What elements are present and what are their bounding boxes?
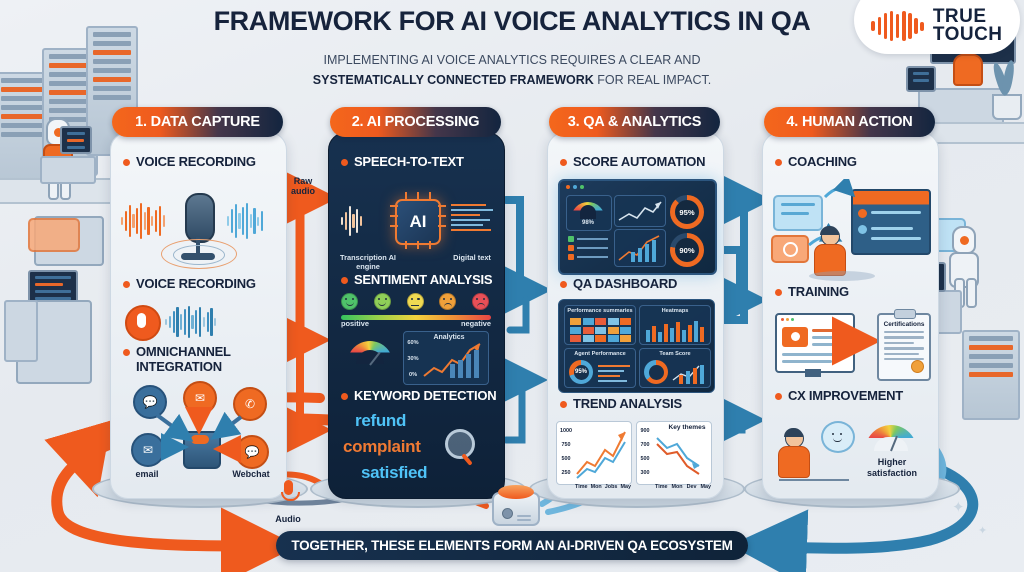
robot-operator <box>46 118 73 180</box>
chat-bubble-icon <box>28 218 80 252</box>
ring-value: 95% <box>575 369 587 375</box>
trend-x-ticks: Time Mon Dev May <box>655 484 711 491</box>
certifications-label: Certifications <box>881 321 927 329</box>
sentiment-gauge-chart-art: Analytics 60% 30% 0% <box>341 329 491 385</box>
email-label: email <box>129 469 165 480</box>
webchat-label: Webchat <box>227 469 275 480</box>
chip-pin <box>405 192 407 200</box>
monitor-icon <box>28 270 78 306</box>
raw-audio-line-2: audio <box>291 186 315 196</box>
bullet-keyword-detection: KEYWORD DETECTION <box>341 389 496 404</box>
desk-block <box>4 300 38 362</box>
analytics-chart-panel: Analytics 60% 30% 0% <box>403 331 489 385</box>
bullet-voice-recording-1: VOICE RECORDING <box>123 155 256 170</box>
chip-pin <box>438 215 446 217</box>
trend-x-tick: May <box>620 484 631 491</box>
trend-x-tick: Time <box>575 484 587 491</box>
trend-chart-right: Key themes 900 700 500 300 Time Mon Dev … <box>636 421 712 485</box>
server-rack-icon <box>962 330 1020 420</box>
chip-pin <box>390 215 398 217</box>
ai-chip-label: AI <box>410 212 427 232</box>
waveform-icon <box>165 305 216 339</box>
waveform-icon <box>341 201 362 241</box>
trend-y-tick: 700 <box>636 442 654 449</box>
bullet-voice-recording-2: VOICE RECORDING <box>123 277 256 292</box>
agent-list-lines <box>598 362 630 385</box>
certification-clipboard: Certifications <box>877 313 931 381</box>
bullet-dot-icon <box>123 281 130 288</box>
bullet-dot-icon <box>341 277 348 284</box>
mic-badge-waveform-art <box>125 299 275 343</box>
trend-x-tick: Time <box>655 484 667 491</box>
medal-icon <box>911 360 924 373</box>
subtitle-line-1: IMPLEMENTING AI VOICE ANALYTICS REQUIRES… <box>324 53 701 67</box>
ring-value: 90% <box>679 246 694 255</box>
column-ai-processing[interactable]: SPEECH-TO-TEXT AI <box>328 132 505 499</box>
legend-panel <box>566 233 610 267</box>
monitor-icon <box>906 66 936 92</box>
bullet-label: OMNICHANNEL INTEGRATION <box>136 345 273 374</box>
microphone-icon <box>137 313 146 328</box>
bullet-dot-icon <box>775 393 782 400</box>
bullet-dot-icon <box>341 393 348 400</box>
ring-inner: 95% <box>574 365 589 380</box>
trend-x-tick: Mon <box>591 484 602 491</box>
bullet-dot-icon <box>123 159 130 166</box>
speaker-top-glow <box>498 485 534 499</box>
coaching-art <box>771 179 931 287</box>
bullet-cx-improvement: CX IMPROVEMENT <box>775 389 903 404</box>
page-subtitle: IMPLEMENTING AI VOICE ANALYTICS REQUIRES… <box>250 50 774 91</box>
sentiment-gauge-icon <box>347 341 393 364</box>
team-score-chart <box>671 360 709 386</box>
monitor-icon <box>60 126 92 154</box>
ground-line <box>779 479 849 481</box>
trend-x-tick: Jobs <box>605 484 618 491</box>
microphone-icon <box>185 193 215 243</box>
ripple-icon <box>161 239 237 269</box>
bullet-sentiment-analysis: SENTIMENT ANALYSIS <box>341 273 492 288</box>
transcription-engine-label: Transcription AI engine <box>339 253 397 271</box>
heatmap-bars <box>640 318 710 344</box>
column-header-qa-analytics[interactable]: 3. QA & ANALYTICS <box>549 107 720 137</box>
column-data-capture[interactable]: VOICE RECORDING VOICE RECORDING <box>110 132 287 499</box>
emoji-very-positive-icon <box>341 293 358 310</box>
analytics-y-tick: 30% <box>404 356 422 363</box>
sentiment-scale-art: positive negative <box>341 293 491 329</box>
magnifier-icon <box>445 429 475 459</box>
server-rack-icon <box>42 48 98 176</box>
ai-chip-art: AI Transcription AI engine Di <box>335 179 498 275</box>
bullet-label: QA DASHBOARD <box>573 277 677 292</box>
bullet-qa-dashboard: QA DASHBOARD <box>560 277 677 292</box>
smart-speaker-icon <box>492 492 540 526</box>
chip-pin <box>390 225 398 227</box>
bullet-label: TRAINING <box>788 285 849 300</box>
omnichannel-art: 💬 ✉ ✆ ✉ 💬 email Webchat <box>121 385 279 493</box>
podium-shadow <box>809 271 875 281</box>
bullet-label: TREND ANALYSIS <box>573 397 682 412</box>
bullet-dot-icon <box>775 159 782 166</box>
sentiment-positive-label: positive <box>341 319 381 328</box>
score-ring-90: 90% <box>670 233 704 267</box>
agent-performance-panel: Agent Performance 95% <box>564 348 636 388</box>
score-gauge-value: 98% <box>575 220 601 227</box>
team-score-panel: Team Score <box>639 348 711 388</box>
bullet-dot-icon <box>560 401 567 408</box>
bar-chart-panel <box>614 229 666 267</box>
smiley-bubble-icon <box>821 421 855 453</box>
trend-x-tick: May <box>701 484 712 491</box>
line-chart-panel <box>614 195 666 227</box>
trend-x-tick: Dev <box>687 484 697 491</box>
waveform-right-icon <box>227 201 263 241</box>
trend-x-ticks: Time Mon Jobs May <box>575 484 631 491</box>
key-themes-title: Key themes <box>665 424 709 432</box>
qa-dashboard-art: Performance summaries Heatmaps A <box>558 299 715 393</box>
digital-text-lines <box>451 201 495 234</box>
bullet-label: VOICE RECORDING <box>136 277 256 292</box>
plant-leaf-icon <box>991 61 1010 96</box>
training-art: Certifications <box>771 309 931 391</box>
plant-leaf-icon <box>1001 59 1016 94</box>
heatmaps-title: Heatmaps <box>640 308 710 315</box>
trend-y-tick: 500 <box>556 456 576 463</box>
score-ring-95: 95% <box>670 195 704 229</box>
connector-label-audio: Audio <box>268 514 308 524</box>
ai-chip-icon: AI <box>395 199 441 245</box>
trend-y-tick: 750 <box>556 442 576 449</box>
performance-summaries-title: Performance summaries <box>565 308 635 315</box>
bullet-dot-icon <box>123 349 130 356</box>
chip-pin <box>438 225 446 227</box>
column-header-ai-processing[interactable]: 2. AI PROCESSING <box>330 107 501 137</box>
bullet-label: VOICE RECORDING <box>136 155 256 170</box>
robot-agent <box>952 226 979 288</box>
infographic-canvas: ✦ ✦ <box>0 0 1024 572</box>
bullet-label: SCORE AUTOMATION <box>573 155 705 170</box>
person-hair <box>820 226 839 235</box>
bullet-label: CX IMPROVEMENT <box>788 389 903 404</box>
keyword-detection-art: refund complaint satisfied <box>339 411 495 497</box>
column-header-human-action[interactable]: 4. HUMAN ACTION <box>764 107 935 137</box>
emoji-very-negative-icon <box>472 293 489 310</box>
score-gauge-icon <box>571 202 605 219</box>
team-score-title: Team Score <box>640 351 710 358</box>
trend-y-tick: 250 <box>556 470 576 477</box>
performance-summaries-panel: Performance summaries <box>564 305 636 345</box>
microphone-waveform-art <box>117 179 280 275</box>
window-dots <box>566 185 584 189</box>
footer-banner: TOGETHER, THESE ELEMENTS FORM AN AI-DRIV… <box>276 531 748 560</box>
emoji-neutral-icon <box>407 293 424 310</box>
analytics-y-tick: 60% <box>404 340 422 347</box>
heatmaps-panel: Heatmaps <box>639 305 711 345</box>
chip-pin <box>417 192 419 200</box>
bar-chart <box>615 230 665 266</box>
score-automation-dashboard: 98% 95% 90% <box>558 179 717 275</box>
bullet-score-automation: SCORE AUTOMATION <box>560 155 705 170</box>
bullet-coaching: COACHING <box>775 155 857 170</box>
agent-performance-ring: 95% <box>569 360 593 384</box>
trend-chart-left: 1000 750 500 250 Time Mon Jobs May <box>556 421 632 485</box>
trend-y-tick: 500 <box>636 456 654 463</box>
raw-audio-line-1: Raw <box>294 176 313 186</box>
coach-person <box>821 227 846 276</box>
keyword-refund: refund <box>355 411 406 431</box>
connector-label-raw-audio: Raw audio <box>282 176 324 197</box>
chip-pin <box>405 241 407 249</box>
voice-waveform-icon <box>871 11 923 41</box>
ring-inner <box>649 365 664 380</box>
ring-inner: 95% <box>675 200 699 224</box>
higher-satisfaction-label: Higher satisfaction <box>859 457 925 479</box>
team-score-ring <box>644 360 668 384</box>
cx-improvement-art: Higher satisfaction <box>771 415 931 495</box>
plant-icon <box>992 94 1022 120</box>
sparkle-icon: ✦ <box>952 498 965 516</box>
bullet-dot-icon <box>560 159 567 166</box>
trend-y-tick: 300 <box>636 470 654 477</box>
heat-grid <box>570 318 631 342</box>
bullet-training: TRAINING <box>775 285 849 300</box>
bullet-label: COACHING <box>788 155 857 170</box>
chip-pin <box>417 241 419 249</box>
bullet-label: KEYWORD DETECTION <box>354 389 496 404</box>
bullet-dot-icon <box>341 159 348 166</box>
trend-x-tick: Mon <box>672 484 683 491</box>
bullet-speech-to-text: SPEECH-TO-TEXT <box>341 155 464 170</box>
speaker-grill <box>517 515 531 517</box>
emoji-positive-icon <box>374 293 391 310</box>
chip-pin <box>390 205 398 207</box>
bullet-dot-icon <box>775 289 782 296</box>
chip-pin <box>438 205 446 207</box>
atm-machine-icon <box>16 300 92 384</box>
chip-pin <box>429 241 431 249</box>
waveform-left-icon <box>121 201 165 241</box>
subtitle-bold: SYSTEMATICALLY CONNECTED FRAMEWORK <box>313 73 594 87</box>
keyword-complaint: complaint <box>343 437 421 457</box>
bullet-dot-icon <box>560 281 567 288</box>
trend-y-tick: 1000 <box>556 428 576 435</box>
agent-performance-title: Agent Performance <box>565 351 635 358</box>
bullet-label: SPEECH-TO-TEXT <box>354 155 464 170</box>
subtitle-tail: FOR REAL IMPACT. <box>594 73 711 87</box>
speaker-button <box>502 508 513 519</box>
smiley-face-icon <box>829 429 845 445</box>
person-hair <box>784 428 803 437</box>
customer-person <box>785 429 810 478</box>
emoji-row <box>341 293 489 310</box>
server-rack-icon <box>0 72 54 188</box>
sparkle-icon: ✦ <box>978 524 987 537</box>
trend-analysis-art: 1000 750 500 250 Time Mon Jobs May Key t… <box>556 421 714 495</box>
column-human-action[interactable]: COACHING <box>762 132 939 499</box>
floor-platform <box>0 178 124 204</box>
bullet-trend-analysis: TREND ANALYSIS <box>560 397 682 412</box>
chip-pin <box>429 192 431 200</box>
column-header-data-capture[interactable]: 1. DATA CAPTURE <box>112 107 283 137</box>
logo-text: TRUE TOUCH <box>933 8 1003 44</box>
sentiment-negative-label: negative <box>445 319 491 328</box>
microphone-icon <box>284 480 293 495</box>
gauge-panel: 98% <box>566 195 612 231</box>
logo-line-2: TOUCH <box>933 24 1003 45</box>
line-chart <box>615 196 665 226</box>
column-qa-analytics[interactable]: SCORE AUTOMATION 98% <box>547 132 724 499</box>
person-torso <box>778 446 810 478</box>
trend-y-tick: 900 <box>636 428 654 435</box>
keyword-satisfied: satisfied <box>361 463 427 483</box>
office-chair-icon <box>953 54 983 86</box>
bullet-omnichannel-integration: OMNICHANNEL INTEGRATION <box>123 345 273 374</box>
bullet-label: SENTIMENT ANALYSIS <box>354 273 492 288</box>
ring-inner: 90% <box>675 238 699 262</box>
digital-text-label: Digital text <box>451 253 493 262</box>
ring-value: 95% <box>679 208 694 217</box>
emoji-negative-icon <box>439 293 456 310</box>
kiosk-icon <box>34 216 104 266</box>
desk-block <box>40 156 96 184</box>
true-touch-logo: TRUE TOUCH <box>854 0 1020 54</box>
analytics-y-tick: 0% <box>404 372 422 379</box>
